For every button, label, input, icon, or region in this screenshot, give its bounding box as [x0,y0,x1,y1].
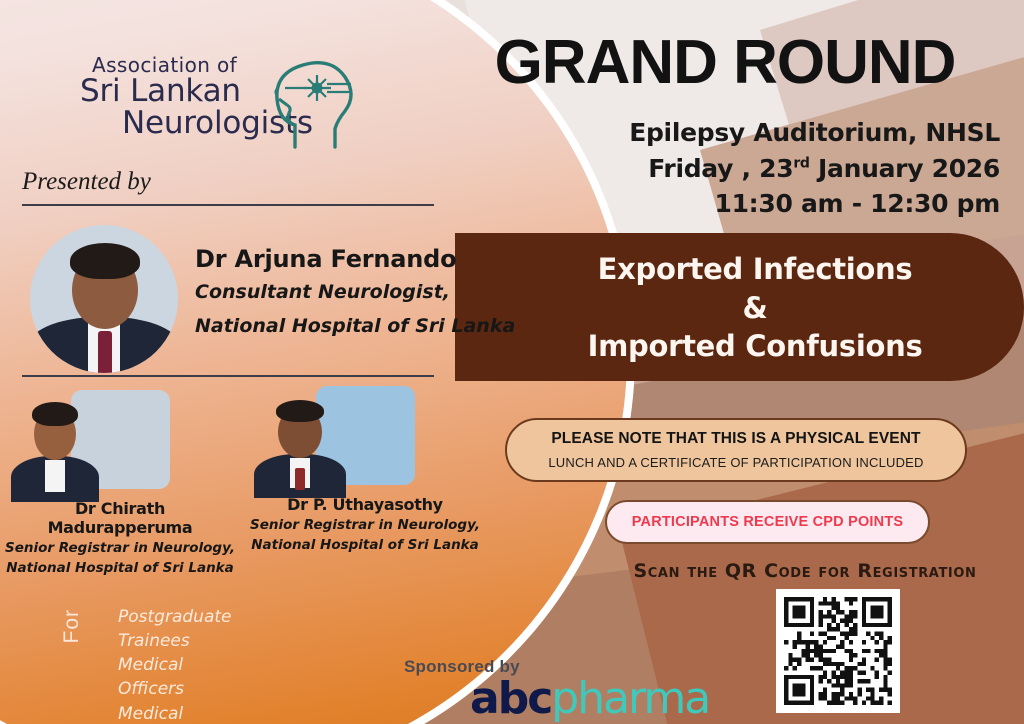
event-details: Epilepsy Auditorium, NHSL Friday , 23rd … [430,115,1000,222]
grand-round-poster: PLEASE NOTE THAT THIS IS A PHYSICAL EVEN… [0,0,1024,724]
sponsor-brand-part2: pharma [551,673,709,724]
topic-title: Exported Infections & Imported Confusion… [520,250,990,366]
qr-code[interactable] [784,597,892,705]
event-date-prefix: Friday , 23 [648,154,793,183]
event-date-ordinal: rd [793,155,809,171]
qr-code-container[interactable] [776,589,900,713]
topic-line-2: & [520,289,990,328]
topic-line-1: Exported Infections [520,250,990,289]
event-date: Friday , 23rd January 2026 [430,151,1000,187]
sponsor-logo: abcpharma [470,673,709,724]
event-venue: Epilepsy Auditorium, NHSL [430,115,1000,151]
sponsor-section: Sponsored by abcpharma [404,657,520,677]
topic-line-3: Imported Confusions [520,327,990,366]
event-date-suffix: January 2026 [810,154,1000,183]
page-title: GRAND ROUND [440,27,1010,98]
sponsor-brand-part1: abc [470,673,551,724]
scan-qr-instruction: Scan the QR Code for Registration [600,560,1010,582]
event-time: 11:30 am - 12:30 pm [430,186,1000,222]
